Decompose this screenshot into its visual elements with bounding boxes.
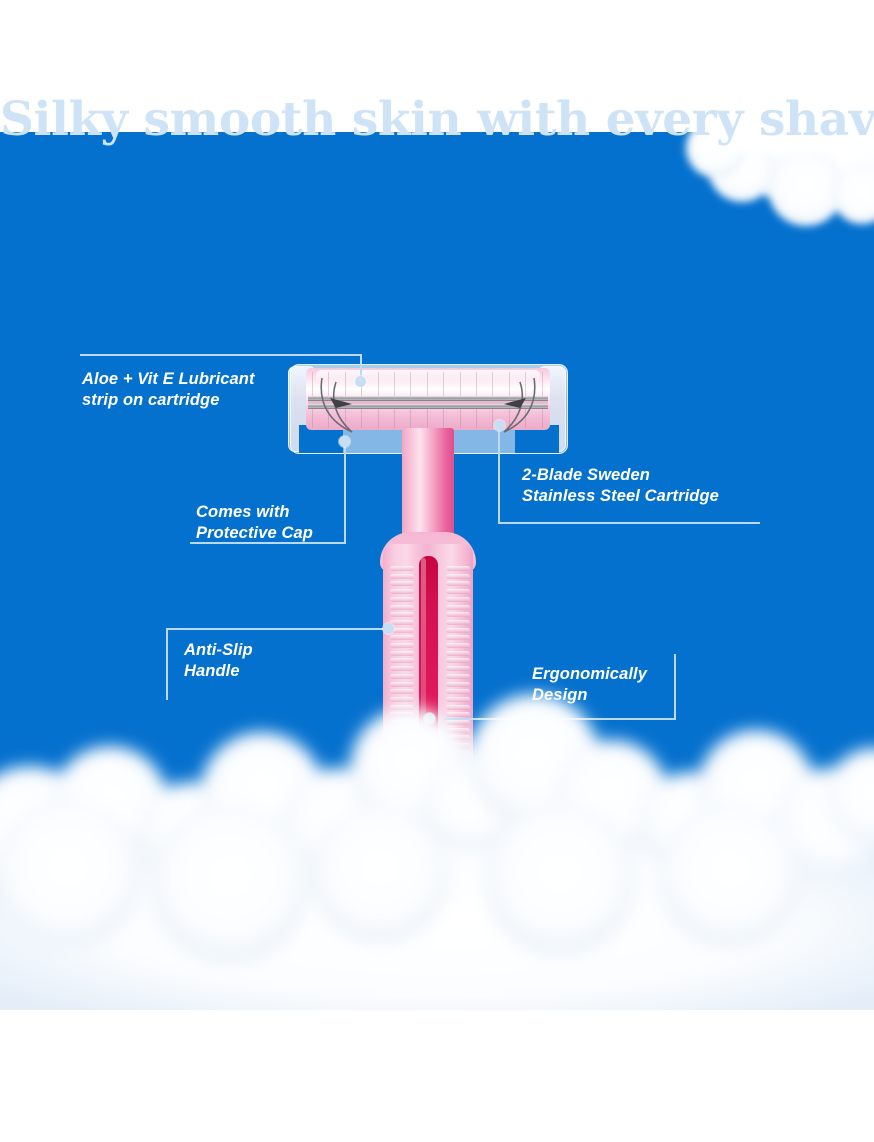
sky-panel: Aloe + Vit E Lubricant strip on cartridg…: [0, 132, 874, 1010]
callout-line-handle-horizontal: [166, 628, 390, 630]
callout-dot-ergonomic: [424, 713, 435, 724]
callout-line-cartridge-vertical: [498, 428, 500, 524]
callout-dot-handle: [383, 623, 394, 634]
page-title: Silky smooth skin with every shave: [0, 92, 874, 147]
callout-label-ergonomic: Ergonomically Design: [532, 664, 712, 706]
callout-dot-cap: [339, 436, 350, 447]
callout-line-ergonomic-horizontal: [444, 718, 676, 720]
handle-ribs-right: [446, 566, 470, 842]
bottom-white-band: [0, 1010, 874, 1142]
callout-line-handle-vertical: [166, 628, 168, 700]
infographic-canvas: Aloe + Vit E Lubricant strip on cartridg…: [0, 0, 874, 1142]
callout-line-cartridge-horizontal: [498, 522, 760, 524]
callout-dot-lubricant: [355, 376, 366, 387]
eyebrow-text: NOT LIKE ANY GENERIC RAZOR IN THE MARKET: [0, 68, 874, 85]
callout-label-lubricant: Aloe + Vit E Lubricant strip on cartridg…: [82, 369, 342, 411]
callout-label-handle: Anti-Slip Handle: [184, 640, 364, 682]
callout-dot-cartridge: [494, 420, 505, 431]
handle-ribs-left: [390, 566, 414, 842]
handle-groove-highlight: [421, 558, 426, 840]
razor-illustration: [0, 132, 874, 1010]
callout-label-cartridge: 2-Blade Sweden Stainless Steel Cartridge: [522, 465, 772, 507]
callout-label-cap: Comes with Protective Cap: [196, 502, 366, 544]
blade-strip-two: [308, 404, 548, 409]
callout-line-lubricant-horizontal: [80, 354, 362, 356]
